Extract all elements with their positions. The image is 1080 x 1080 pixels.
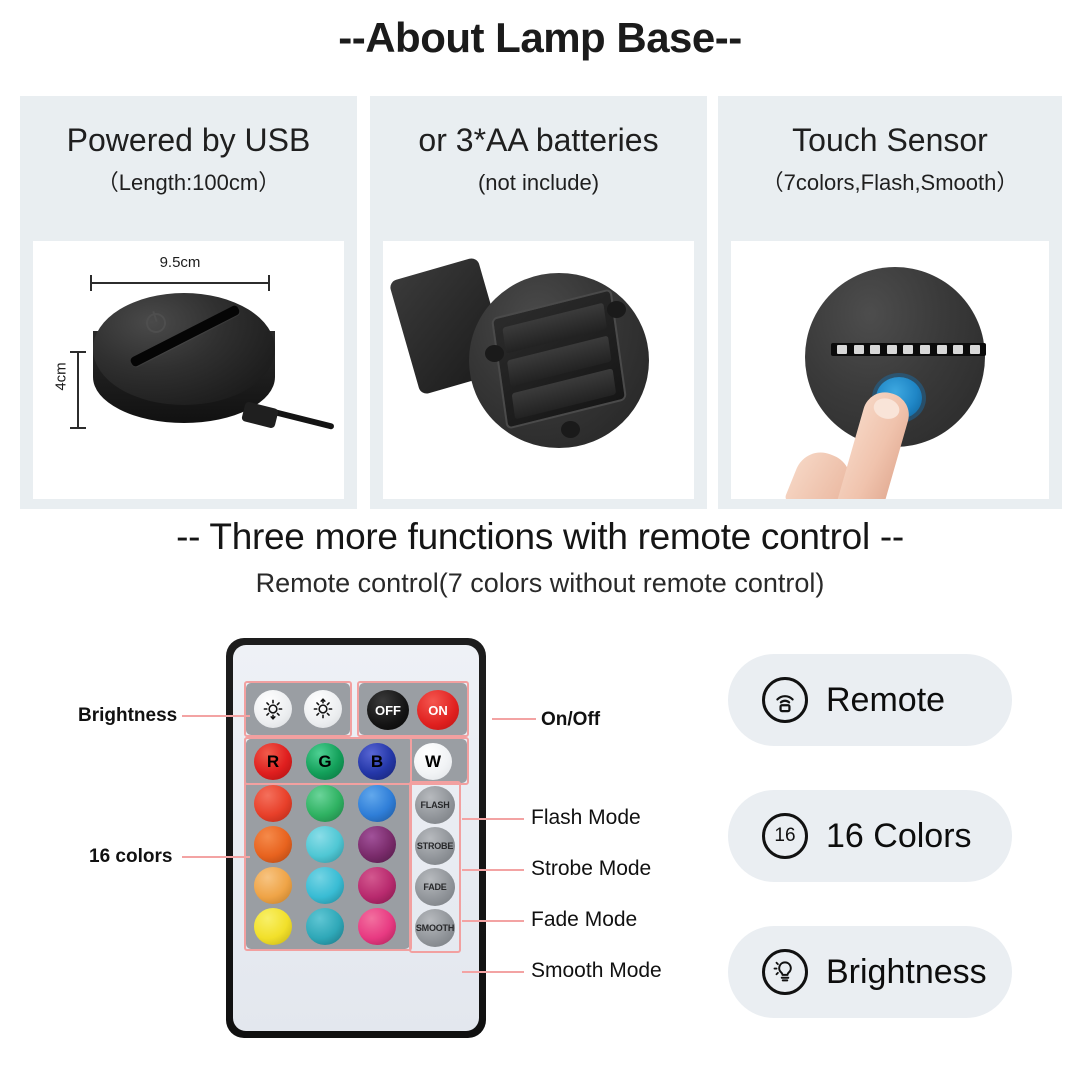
panel-aa-batteries: or 3*AA batteries (not include) [370, 96, 707, 509]
color-button-r-label: R [267, 753, 279, 770]
color-button-g[interactable]: G [306, 743, 344, 780]
leader-line-brightness [182, 715, 250, 717]
fade-mode-label: FADE [423, 883, 446, 892]
remote-faceplate: OFF ON R G B W [233, 645, 479, 1031]
color-swatch[interactable] [254, 826, 292, 863]
light-bulb-glyph [770, 957, 800, 987]
rubber-foot [607, 301, 626, 318]
brightness-down-icon [262, 698, 284, 720]
annotation-brightness: Brightness [78, 705, 177, 727]
led-dot [970, 345, 980, 354]
color-swatch[interactable] [306, 867, 344, 904]
section-subtitle: Remote control(7 colors without remote c… [0, 568, 1080, 599]
brightness-up-icon [312, 698, 334, 720]
width-dimension-label: 9.5cm [90, 255, 270, 270]
card-brightness-label: Brightness [826, 953, 987, 992]
infographic-page: --About Lamp Base-- Powered by USB （Leng… [0, 0, 1080, 1080]
brightness-down-button[interactable] [254, 690, 292, 728]
battery-compartment-photo [383, 241, 694, 499]
leader-line-16-colors [182, 856, 250, 858]
color-swatch[interactable] [358, 785, 396, 822]
color-swatch[interactable] [254, 908, 292, 945]
height-dimension-label: 4cm [54, 355, 69, 399]
off-button-label: OFF [375, 704, 401, 717]
leader-line-fade [462, 920, 524, 922]
remote-signal-glyph [771, 686, 799, 714]
led-dot [870, 345, 880, 354]
annotation-strobe-mode: Strobe Mode [531, 857, 651, 881]
panel-subtitle: （Length:100cm） [97, 171, 280, 194]
card-16-colors-label: 16 Colors [826, 817, 972, 856]
panel-title: or 3*AA batteries [418, 124, 658, 158]
panel-title: Touch Sensor [792, 124, 988, 158]
rubber-foot [485, 345, 504, 362]
led-strip [831, 343, 986, 356]
panel-powered-by-usb: Powered by USB （Length:100cm） 9.5cm 4cm [20, 96, 357, 509]
color-button-w-label: W [425, 753, 441, 770]
color-button-b-label: B [371, 753, 383, 770]
leader-line-on-off [492, 718, 536, 720]
color-swatch[interactable] [254, 867, 292, 904]
led-dot [920, 345, 930, 354]
card-remote-label: Remote [826, 681, 945, 720]
leader-line-flash [462, 818, 524, 820]
usb-plug [241, 401, 279, 429]
card-remote: Remote [728, 654, 1012, 746]
remote-control: OFF ON R G B W [226, 638, 486, 1038]
annotation-fade-mode: Fade Mode [531, 908, 637, 932]
strobe-mode-label: STROBE [417, 842, 453, 851]
leader-line-smooth [462, 971, 524, 973]
color-button-w[interactable]: W [414, 743, 452, 780]
feature-panels: Powered by USB （Length:100cm） 9.5cm 4cm [20, 96, 1062, 509]
color-swatch[interactable] [358, 826, 396, 863]
remote-signal-icon [762, 677, 808, 723]
color-swatch[interactable] [306, 785, 344, 822]
sixteen-circle-icon: 16 [762, 813, 808, 859]
led-dot [854, 345, 864, 354]
color-swatch[interactable] [306, 908, 344, 945]
on-button-label: ON [428, 704, 448, 717]
on-button[interactable]: ON [417, 690, 459, 730]
acrylic-slot [129, 304, 240, 367]
flash-mode-label: FLASH [421, 801, 450, 810]
color-button-g-label: G [318, 753, 331, 770]
usb-lamp-base-photo: 9.5cm 4cm [33, 241, 344, 499]
color-button-r[interactable]: R [254, 743, 292, 780]
panel-title: Powered by USB [67, 124, 311, 158]
annotation-flash-mode: Flash Mode [531, 806, 641, 830]
width-dimension: 9.5cm [90, 267, 270, 289]
section-title: -- Three more functions with remote cont… [0, 516, 1080, 558]
smooth-mode-button[interactable]: SMOOTH [415, 909, 455, 947]
lamp-base-illustration [93, 293, 275, 443]
annotation-16-colors: 16 colors [89, 846, 172, 868]
panel-subtitle: (not include) [478, 171, 599, 194]
sixteen-circle-text: 16 [774, 825, 795, 847]
color-swatch[interactable] [358, 867, 396, 904]
panel-subtitle: （7colors,Flash,Smooth） [762, 171, 1019, 194]
led-dot [887, 345, 897, 354]
touch-sensor-photo [731, 241, 1049, 499]
panel-touch-sensor: Touch Sensor （7colors,Flash,Smooth） [718, 96, 1062, 509]
card-16-colors: 16 16 Colors [728, 790, 1012, 882]
smooth-mode-label: SMOOTH [416, 924, 454, 933]
leader-line-strobe [462, 869, 524, 871]
brightness-up-button[interactable] [304, 690, 342, 728]
led-dot [953, 345, 963, 354]
annotation-smooth-mode: Smooth Mode [531, 959, 662, 983]
light-bulb-icon [762, 949, 808, 995]
color-swatch[interactable] [254, 785, 292, 822]
strobe-mode-button[interactable]: STROBE [415, 827, 455, 865]
led-dot [903, 345, 913, 354]
height-dimension: 4cm [55, 351, 85, 429]
power-symbol-icon [143, 310, 168, 335]
card-brightness: Brightness [728, 926, 1012, 1018]
page-title: --About Lamp Base-- [0, 14, 1080, 62]
off-button[interactable]: OFF [367, 690, 409, 730]
rubber-foot [561, 421, 580, 438]
led-dot [837, 345, 847, 354]
fade-mode-button[interactable]: FADE [415, 868, 455, 906]
color-swatch[interactable] [306, 826, 344, 863]
flash-mode-button[interactable]: FLASH [415, 786, 455, 824]
color-swatch[interactable] [358, 908, 396, 945]
lamp-base-underside [469, 273, 649, 448]
annotation-on-off: On/Off [541, 709, 600, 731]
color-button-b[interactable]: B [358, 743, 396, 780]
led-dot [937, 345, 947, 354]
